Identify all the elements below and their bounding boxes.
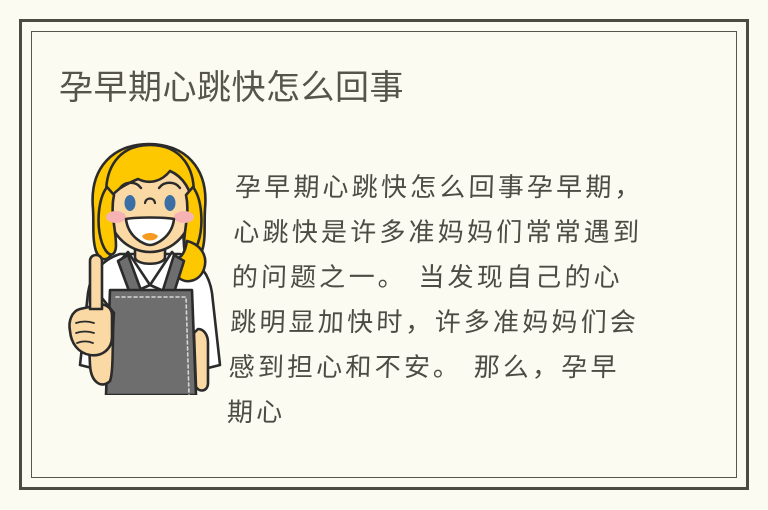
page-title: 孕早期心跳快怎么回事	[59, 66, 404, 110]
arm-right	[194, 329, 208, 390]
cheek-right	[174, 211, 194, 223]
article-body: 孕早期心跳快怎么回事孕早期，心跳快是许多准妈妈们常常遇到的问题之一。 当发现自己…	[226, 166, 649, 436]
illustration-cartoon-woman-pointing-up	[58, 133, 240, 395]
hand-fist	[69, 304, 112, 355]
eye-left	[125, 195, 136, 211]
cheek-left	[106, 211, 126, 223]
finger-pointing-up	[90, 255, 102, 309]
apron-body	[106, 290, 196, 395]
article-page: 孕早期心跳快怎么回事	[0, 0, 768, 510]
eye-right	[165, 195, 176, 211]
